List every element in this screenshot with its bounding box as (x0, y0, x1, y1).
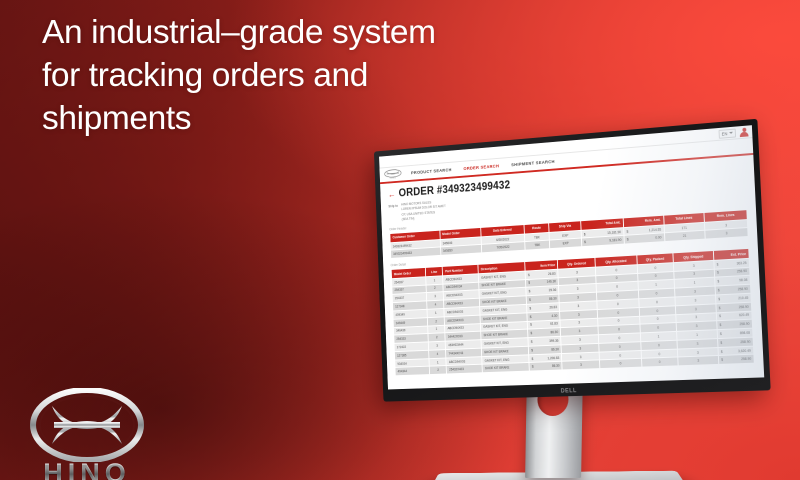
table-cell: 1 (640, 332, 676, 341)
table-cell: 453HD3444 (446, 340, 481, 349)
table-cell: $0.00 (624, 234, 664, 244)
table-cell: TBK (525, 241, 550, 250)
table-cell: 3 (562, 344, 599, 353)
dell-brand-label: DELL (561, 388, 577, 394)
table-cell: 127385 (395, 351, 429, 360)
ship-to-address: HINO MOTORS SALES LOREM IPSUM DOLOR SIT … (401, 200, 446, 223)
table-cell: 0 (600, 359, 641, 368)
order-detail-page: ← ORDER #349323499432 Ship to HINO MOTOR… (380, 155, 763, 377)
monitor-screen: EN HINO PRODUCT SEARCH ORDER SEARCH (379, 125, 764, 389)
table-cell: $1,206.83 (529, 354, 561, 363)
hino-emblem-icon (24, 388, 150, 462)
table-cell: 7/05/2022 (482, 243, 525, 253)
back-arrow-icon[interactable]: ← (388, 190, 396, 199)
table-cell: 1 (428, 309, 444, 317)
dell-monitor: DELL EN HINO (330, 118, 770, 480)
table-cell: 3 (679, 356, 718, 365)
table-cell: 2 (429, 333, 445, 341)
table-cell: $4.30 (527, 312, 559, 321)
nav-item-order-search[interactable]: ORDER SEARCH (461, 161, 502, 173)
table-cell: 21 (665, 231, 705, 241)
table-cell: $620.49 (717, 311, 752, 320)
table-cell: EXP (550, 239, 581, 248)
table-cell: $86.30 (528, 328, 560, 337)
table-cell: 3 (563, 361, 600, 370)
table-cell: 934034 (395, 359, 429, 368)
table-cell: 4 (429, 350, 445, 358)
table-cell: $86.30 (530, 362, 562, 371)
chevron-down-icon (729, 132, 733, 134)
table-cell: 3 (562, 352, 599, 361)
table-cell: SHOE KIT BRAKE (483, 363, 529, 372)
table-cell: 0 (641, 341, 677, 350)
table-cell: 4 (427, 301, 443, 309)
nav-item-shipment-search[interactable]: SHIPMENT SEARCH (508, 157, 557, 169)
table-cell: ABCD94X03 (447, 357, 482, 366)
ship-to-label: Ship to (388, 203, 398, 223)
table-cell: 3 (678, 348, 717, 357)
table-cell: $258.90 (717, 320, 752, 329)
hino-wordmark: HINO (28, 458, 146, 480)
table-cell: 2 (427, 284, 443, 292)
table-cell: 25432X403 (447, 365, 482, 374)
table-cell: 0 (640, 323, 676, 332)
column-header[interactable]: Line (426, 267, 442, 276)
column-header[interactable]: Route (524, 223, 549, 233)
table-cell: $258.90 (718, 338, 753, 347)
table-cell: 2 (428, 317, 444, 325)
hino-nav-logo[interactable]: HINO (384, 169, 403, 181)
table-cell: $9,181.90 (582, 236, 624, 246)
user-avatar-icon[interactable] (739, 127, 748, 137)
table-cell: $258.90 (716, 302, 751, 311)
table-cell: 345650 (441, 245, 481, 255)
table-cell: 172422 (395, 342, 429, 351)
table-cell: 74434X043 (446, 348, 481, 357)
table-cell: 3 (678, 339, 717, 348)
table-cell: $399.36 (528, 337, 560, 346)
table-cell: 3 (561, 335, 598, 344)
language-selector[interactable]: EN (719, 128, 736, 138)
language-selector-value: EN (722, 131, 728, 136)
headline-line-2: for tracking orders and (42, 54, 562, 97)
table-cell: $61.83 (528, 320, 560, 329)
hino-logo: HINO (24, 388, 164, 480)
table-cell: 1 (430, 358, 446, 366)
table-cell: 1 (426, 276, 442, 284)
order-detail-table: Model OrderLinePart NumberDescriptionIte… (391, 248, 755, 376)
table-cell: 3 (429, 342, 445, 350)
table-cell: 0 (642, 358, 678, 367)
table-cell: $86.30 (529, 345, 561, 354)
headline-line-1: An industrial–grade system (42, 11, 562, 54)
monitor-bezel: DELL EN HINO (374, 119, 771, 402)
table-cell: 494344 (395, 367, 429, 375)
table-cell: 1 (677, 330, 716, 339)
table-cell: $258.90 (719, 355, 754, 364)
table-cell: 2 (430, 366, 446, 374)
table-cell: 0 (641, 349, 677, 358)
table-cell: $898.08 (717, 329, 752, 338)
table-cell: 0 (600, 351, 641, 360)
table-cell: 3 (706, 228, 748, 238)
table-cell: 3 (427, 292, 443, 300)
table-cell: $3,620.49 (718, 346, 753, 355)
order-detail-body: 2543371ABCD94X03GASKET KIT, ENG$26.83300… (392, 259, 754, 376)
table-cell: 1 (428, 325, 444, 333)
nav-item-product-search[interactable]: PRODUCT SEARCH (408, 165, 454, 177)
